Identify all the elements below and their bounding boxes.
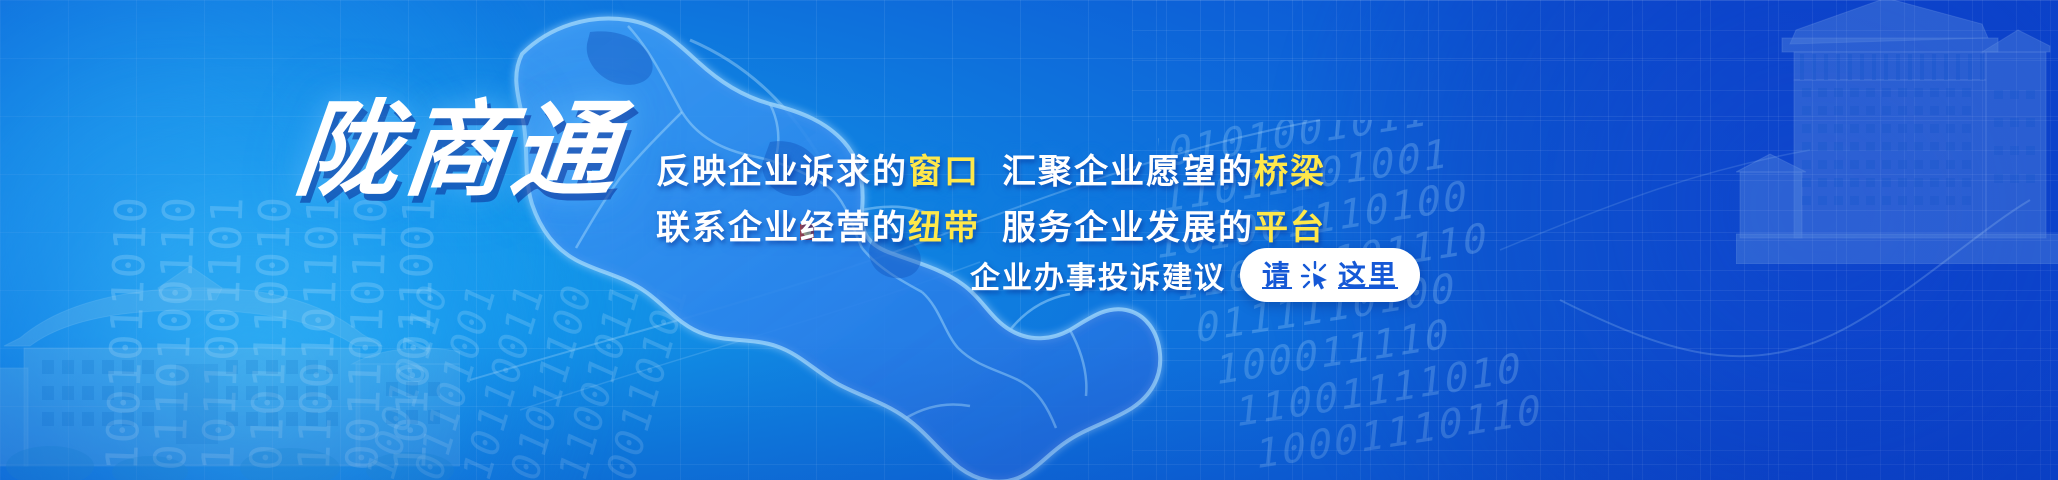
slogan-1-seg-1: 反映企业诉求的 [656,153,908,191]
slogan-line-1: 反映企业诉求的窗口汇聚企业愿望的桥梁 [656,144,1276,200]
click-cursor-icon [1300,261,1330,291]
slogan-2-highlight-1: 纽带 [908,209,980,247]
brand-title: 陇商通 [290,96,625,204]
click-here-button-suffix: 这里 [1338,254,1398,294]
cta-label: 企业办事投诉建议 [970,253,1226,297]
slogan-2-seg-2: 服务企业发展的 [1002,209,1254,247]
click-here-button-prefix: 请 [1262,254,1292,294]
slogan-2-highlight-2: 平台 [1254,209,1326,247]
slogan-block: 反映企业诉求的窗口汇聚企业愿望的桥梁 联系企业经营的纽带服务企业发展的平台 [656,144,1276,256]
banner-content: 陇商通 反映企业诉求的窗口汇聚企业愿望的桥梁 联系企业经营的纽带服务企业发展的平… [0,0,2058,480]
promo-banner: 1001011010 0110100110 1011001101 0101110… [0,0,2058,480]
cta-row: 企业办事投诉建议 请 这里 [970,248,1420,302]
slogan-1-highlight-1: 窗口 [908,153,980,191]
slogan-1-seg-2: 汇聚企业愿望的 [1002,153,1254,191]
slogan-1-highlight-2: 桥梁 [1254,153,1326,191]
click-here-button[interactable]: 请 这里 [1240,248,1420,302]
slogan-2-seg-1: 联系企业经营的 [656,209,908,247]
